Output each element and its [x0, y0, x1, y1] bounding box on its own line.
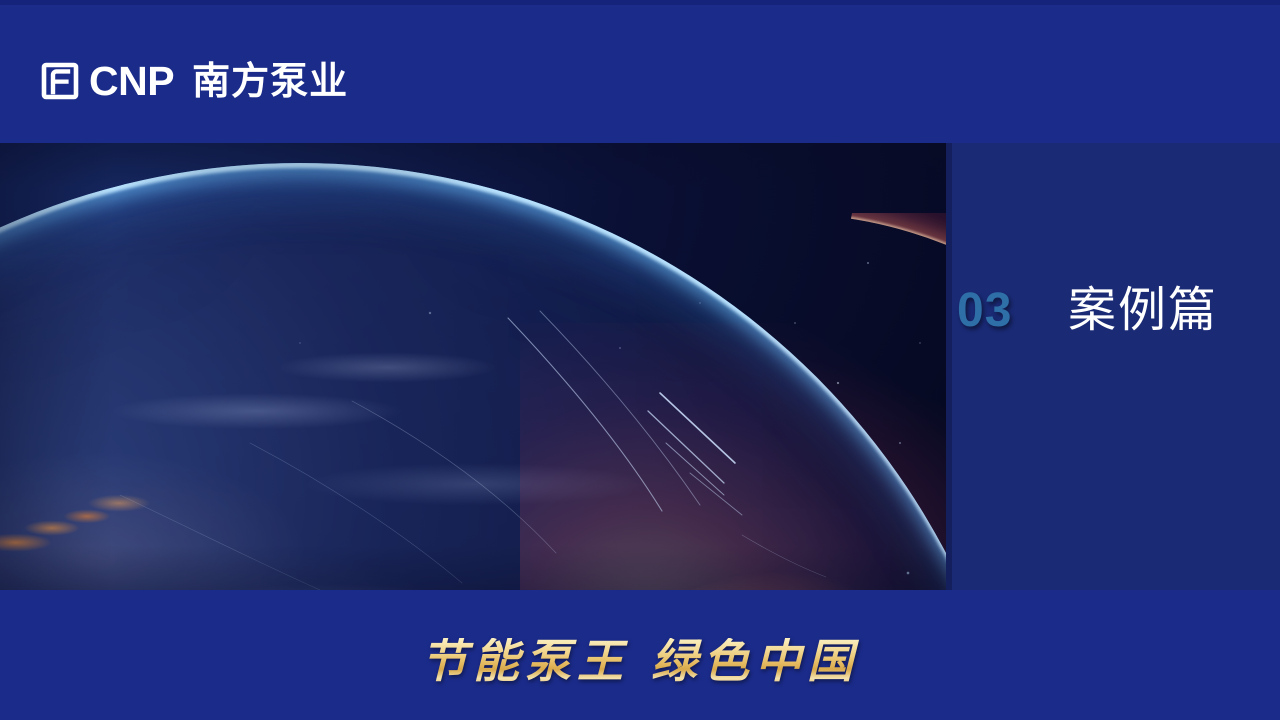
brand-chinese-text: 南方泵业	[192, 62, 348, 100]
section-number: 03	[957, 287, 1012, 335]
cnp-logo-mark-icon	[40, 61, 80, 101]
section-title: 案例篇	[1068, 285, 1218, 335]
earth-from-space-image	[0, 143, 946, 590]
section-panel	[952, 143, 1280, 590]
hero-image-panel	[0, 143, 946, 590]
presentation-slide: CNP 南方泵业	[0, 0, 1280, 720]
brand-logo[interactable]: CNP 南方泵业	[40, 57, 348, 105]
slide-header: CNP 南方泵业	[0, 5, 1280, 143]
company-slogan: 节能泵王 绿色中国	[0, 638, 1280, 684]
brand-latin-text: CNP	[89, 61, 174, 102]
